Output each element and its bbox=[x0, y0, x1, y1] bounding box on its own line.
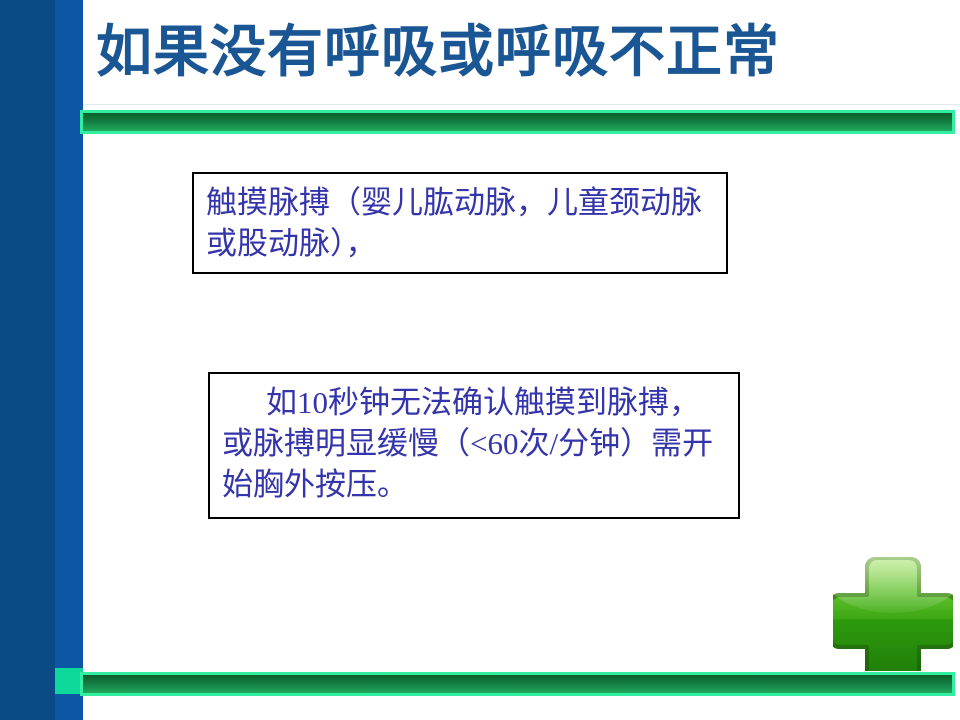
sidebar-light-stripe bbox=[55, 0, 83, 720]
sidebar-green-accent-block bbox=[55, 668, 83, 694]
slide-title: 如果没有呼吸或呼吸不正常 bbox=[96, 8, 856, 98]
content-textbox-compression-rule: 如10秒钟无法确认触摸到脉搏，或脉搏明显缓慢（<60次/分钟）需开始胸外按压。 bbox=[208, 372, 740, 519]
presentation-slide: 如果没有呼吸或呼吸不正常 触摸脉搏（婴儿肱动脉，儿童颈动脉或股动脉）， 如10秒… bbox=[0, 0, 960, 720]
bottom-green-ribbon bbox=[80, 672, 955, 696]
title-underline-rule bbox=[83, 104, 960, 105]
content-textbox-pulse-check: 触摸脉搏（婴儿肱动脉，儿童颈动脉或股动脉）， bbox=[192, 172, 728, 274]
green-medical-cross-icon bbox=[833, 551, 953, 671]
top-green-ribbon bbox=[80, 110, 955, 134]
sidebar-dark-stripe bbox=[0, 0, 55, 720]
